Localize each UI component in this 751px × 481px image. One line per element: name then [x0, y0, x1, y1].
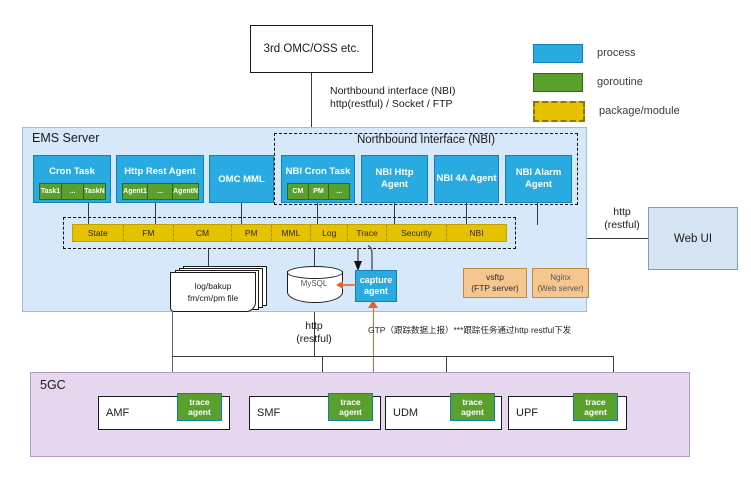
process-cron-task[interactable]: Cron Task Task1 ... TaskN	[33, 155, 111, 203]
module-security[interactable]: Security	[387, 225, 447, 241]
nbi-cron-task-goroutines: CM PM ...	[287, 183, 349, 200]
vsftp-server-box: vsftp (FTP server)	[463, 268, 527, 298]
mysql-cylinder-top	[287, 266, 343, 279]
gtp-note: GTP（跟踪数据上报）***跟踪任务通过http restful下发	[368, 324, 698, 336]
mysql-label: MySQL	[287, 279, 341, 288]
process-cron-task-label: Cron Task	[34, 158, 110, 181]
ems-server-title: EMS Server	[32, 131, 99, 145]
http-restful-middle-label: http (restful)	[288, 318, 340, 348]
connector-nbi-alarm-to-modules	[537, 203, 538, 225]
module-bar: State FM CM PM MML Log Trace Security NB…	[72, 224, 507, 242]
legend-item-process: process	[533, 42, 743, 64]
connector-3rd-party-to-ems	[311, 73, 312, 127]
legend-swatch-process	[533, 44, 583, 63]
module-mml[interactable]: MML	[272, 225, 312, 241]
connector-ems-to-webui	[587, 238, 648, 239]
web-ui-label: Web UI	[674, 233, 712, 245]
webui-link-label: http (restful)	[596, 203, 648, 235]
legend-item-package-module: package/module	[533, 100, 743, 122]
network-function-udm-label: UDM	[393, 407, 418, 420]
trace-agent-amf-line1: trace	[189, 397, 209, 407]
third-party-omc-oss-box: 3rd OMC/OSS etc.	[250, 25, 373, 73]
process-http-rest-agent-label: Http Rest Agent	[117, 158, 203, 181]
process-nbi-cron-task[interactable]: NBI Cron Task CM PM ...	[281, 155, 355, 203]
process-nbi-4a-agent[interactable]: NBI 4A Agent	[434, 155, 499, 203]
trace-agent-amf[interactable]: trace agent	[177, 393, 222, 421]
trace-agent-udm-line2: agent	[461, 407, 484, 417]
file-store-stack: log/bakup fm/cm/pm file	[170, 266, 265, 312]
process-http-rest-agent[interactable]: Http Rest Agent Agent1 ... AgentN	[116, 155, 204, 203]
capture-agent-line1: capture	[360, 275, 393, 286]
process-nbi-cron-task-label: NBI Cron Task	[282, 158, 354, 181]
file-store-line2: fm/cm/pm file	[188, 292, 239, 304]
gtp-arrowhead-to-capture-agent	[368, 300, 379, 312]
legend-item-goroutine: goroutine	[533, 71, 743, 93]
legend-label-goroutine: goroutine	[597, 76, 643, 88]
goroutine-agent-ellipsis: ...	[147, 183, 173, 200]
module-nbi[interactable]: NBI	[447, 225, 506, 241]
http-restful-middle-line1: http	[305, 320, 323, 333]
nbi-group-title: Northbound Interface (NBI)	[274, 134, 578, 146]
process-omc-mml-label: OMC MML	[218, 174, 264, 185]
goroutine-agentn: AgentN	[172, 183, 199, 200]
trace-agent-upf[interactable]: trace agent	[573, 393, 618, 421]
trace-agent-smf-line2: agent	[339, 407, 362, 417]
goroutine-task1: Task1	[39, 183, 62, 200]
legend-swatch-package-module	[533, 101, 585, 122]
network-function-amf-label: AMF	[106, 407, 129, 420]
legend: process goroutine package/module	[533, 42, 743, 129]
legend-swatch-goroutine	[533, 73, 583, 92]
process-nbi-4a-agent-label: NBI 4A Agent	[437, 173, 497, 185]
trace-agent-udm-line1: trace	[462, 397, 482, 407]
trace-agent-smf-line1: trace	[340, 397, 360, 407]
web-ui-box[interactable]: Web UI	[648, 207, 738, 270]
5gc-title: 5GC	[40, 378, 66, 392]
process-nbi-alarm-agent-label: NBI Alarm Agent	[506, 167, 571, 191]
file-store-line1: log/bakup	[195, 280, 232, 292]
third-party-label: 3rd OMC/OSS etc.	[264, 43, 360, 55]
module-state[interactable]: State	[73, 225, 124, 241]
goroutine-taskn: TaskN	[83, 183, 106, 200]
http-rest-agent-goroutines: Agent1 ... AgentN	[122, 183, 198, 200]
nbi-annotation-line1: Northbound interface (NBI)	[330, 85, 560, 98]
nginx-line2: (Web server)	[537, 283, 583, 294]
process-nbi-http-agent[interactable]: NBI Http Agent	[361, 155, 428, 203]
bus-horizontal-black	[172, 356, 614, 357]
process-nbi-http-agent-label: NBI Http Agent	[362, 167, 427, 191]
module-fm[interactable]: FM	[124, 225, 175, 241]
capture-agent-box[interactable]: capture agent	[355, 270, 397, 302]
vsftp-line1: vsftp	[486, 272, 504, 283]
goroutine-task-ellipsis: ...	[61, 183, 84, 200]
process-nbi-alarm-agent[interactable]: NBI Alarm Agent	[505, 155, 572, 203]
trace-agent-upf-line1: trace	[585, 397, 605, 407]
trace-agent-udm[interactable]: trace agent	[450, 393, 495, 421]
webui-link-line1: http	[613, 206, 631, 219]
file-page-front: log/bakup fm/cm/pm file	[170, 272, 256, 312]
legend-label-process: process	[597, 47, 636, 59]
goroutine-nbi-ellipsis: ...	[328, 183, 350, 200]
capture-agent-line2: agent	[364, 286, 388, 297]
legend-label-package-module: package/module	[599, 105, 680, 117]
trace-agent-amf-line2: agent	[188, 407, 211, 417]
nginx-line1: Nginx	[550, 272, 570, 283]
nbi-annotation-line2: http(restful) / Socket / FTP	[330, 98, 560, 111]
vsftp-line2: (FTP server)	[471, 283, 519, 294]
goroutine-pm: PM	[308, 183, 330, 200]
trace-agent-smf[interactable]: trace agent	[328, 393, 373, 421]
network-function-upf-label: UPF	[516, 407, 538, 420]
module-log[interactable]: Log	[311, 225, 348, 241]
goroutine-agent1: Agent1	[122, 183, 148, 200]
process-omc-mml[interactable]: OMC MML	[209, 155, 274, 203]
webui-link-line2: (restful)	[604, 219, 640, 232]
module-trace[interactable]: Trace	[348, 225, 387, 241]
module-pm[interactable]: PM	[232, 225, 272, 241]
trace-agent-upf-line2: agent	[584, 407, 607, 417]
mysql-database: MySQL	[287, 266, 341, 306]
nbi-annotation: Northbound interface (NBI) http(restful)…	[330, 85, 560, 111]
http-restful-middle-line2: (restful)	[296, 333, 332, 346]
network-function-smf-label: SMF	[257, 407, 280, 420]
goroutine-cm: CM	[287, 183, 309, 200]
nginx-server-box: Nginx (Web server)	[532, 268, 589, 298]
cron-task-goroutines: Task1 ... TaskN	[39, 183, 105, 200]
module-cm[interactable]: CM	[174, 225, 232, 241]
